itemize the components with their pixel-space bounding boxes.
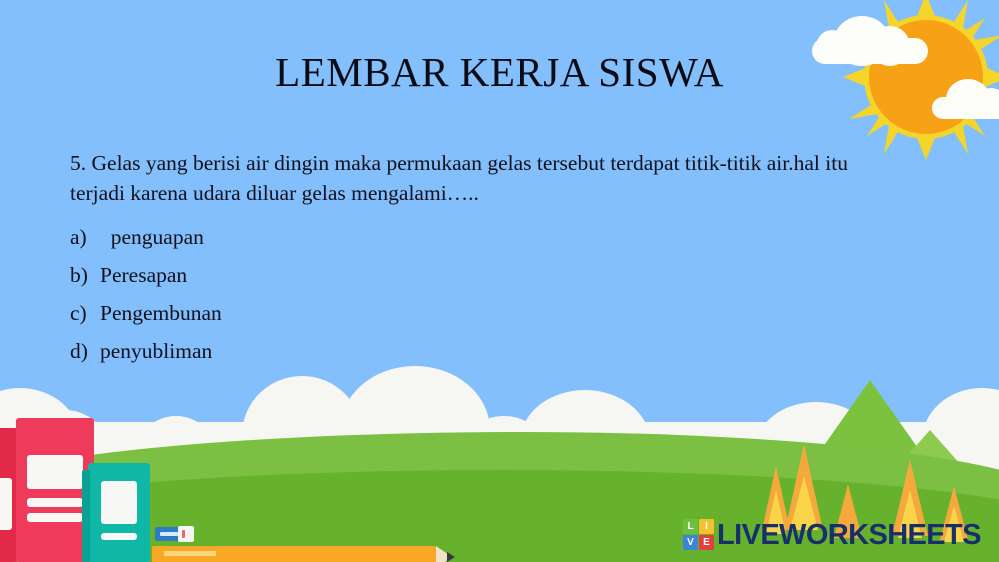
answer-option-d[interactable]: d) penyubliman [70,332,570,370]
logo-tile-i: I [699,519,714,534]
answer-option-a[interactable]: a) penguapan [70,218,570,256]
liveworksheets-logo-tiles: L I V E [683,519,714,550]
book-red-front-label-top [27,455,83,489]
liveworksheets-logo: L I V E LIVEWORKSHEETS [683,519,981,550]
answer-option-b-marker: b) [70,256,100,294]
answer-option-b-label: Peresapan [100,256,187,294]
answer-options-list: a) penguapan b) Peresapan c) Pengembunan… [70,218,570,370]
answer-option-a-label: penguapan [100,218,204,256]
logo-tile-v: V [683,535,698,550]
book-teal-label [101,481,137,524]
book-red-front-label-line2 [27,513,83,522]
answer-option-d-marker: d) [70,332,100,370]
answer-option-c-label: Pengembunan [100,294,222,332]
logo-tile-e: E [699,535,714,550]
logo-tile-l: L [683,519,698,534]
worksheet-page: LEMBAR KERJA SISWA 5. Gelas yang berisi … [0,0,999,562]
cloud-top-right [932,97,999,119]
answer-option-b[interactable]: b) Peresapan [70,256,570,294]
answer-option-c[interactable]: c) Pengembunan [70,294,570,332]
pencil-lead [447,552,455,562]
book-teal-spine [82,470,90,562]
question-text: 5. Gelas yang berisi air dingin maka per… [70,148,900,208]
eraser-white [178,526,194,542]
liveworksheets-wordmark: LIVEWORKSHEETS [717,520,981,550]
pencil-stripe [164,551,216,556]
book-red-front-label-line1 [27,498,83,507]
answer-option-d-label: penyubliman [100,332,212,370]
book-teal-label-line [101,533,137,540]
book-red-back-label [0,478,12,530]
eraser-red-mark [182,530,185,538]
answer-option-a-marker: a) [70,218,100,256]
eraser-tick [160,532,178,536]
page-title: LEMBAR KERJA SISWA [0,48,999,96]
answer-option-c-marker: c) [70,294,100,332]
